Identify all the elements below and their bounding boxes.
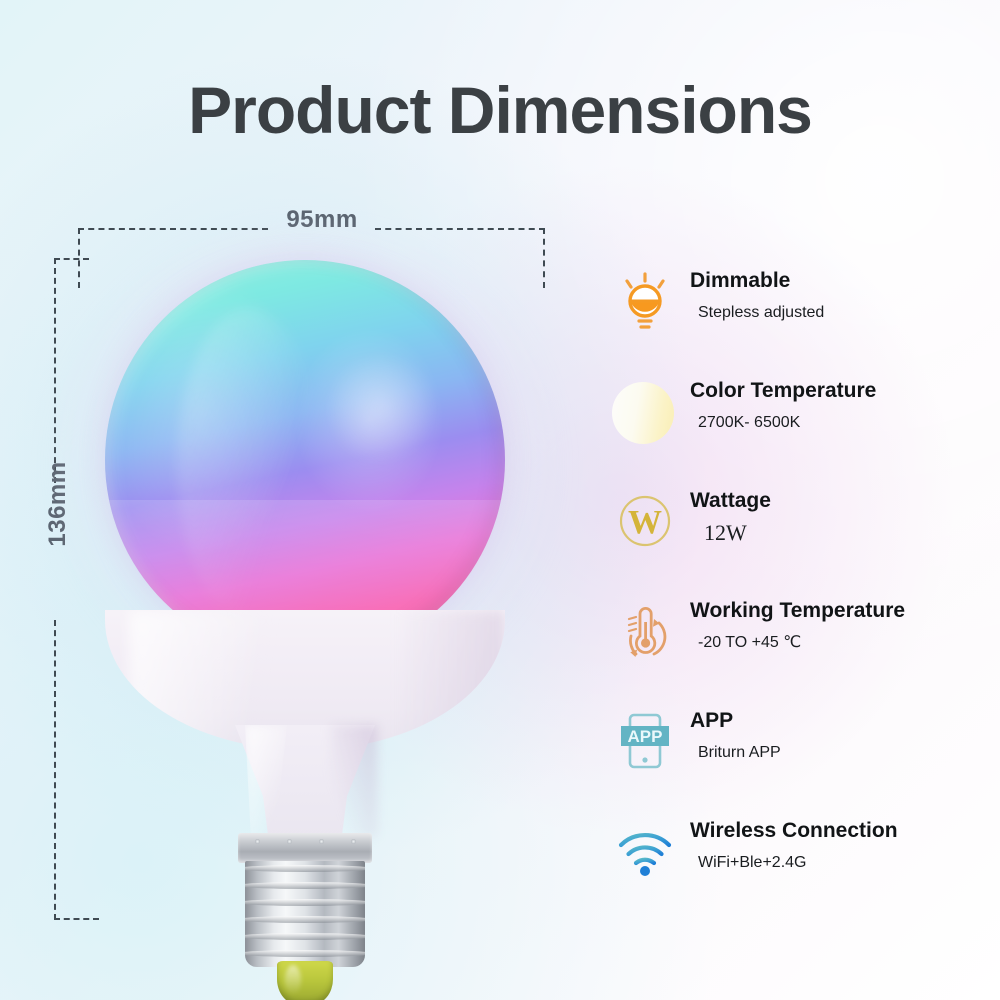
svg-text:APP: APP: [628, 727, 663, 746]
height-guide-lower: [54, 620, 56, 920]
spec-item-app: APP APP Briturn APP: [612, 708, 1000, 818]
collar-rivet: [319, 839, 324, 844]
base-tip-sheen: [285, 965, 301, 995]
collar-rivet: [287, 839, 292, 844]
wattage-w-circle-icon: W: [612, 490, 678, 556]
thread-ridge: [245, 950, 365, 957]
spec-title: Dimmable: [690, 268, 1000, 294]
spec-text: Dimmable Stepless adjusted: [690, 268, 1000, 324]
neck-shade: [331, 725, 377, 837]
color-temperature-gradient: [612, 382, 674, 444]
spec-text: Wattage 12W: [690, 488, 1000, 544]
product-dimensions-infographic: Product Dimensions 95mm 136mm E27: [0, 0, 1000, 1000]
thread-ridge: [245, 865, 365, 872]
spec-subtitle: Stepless adjusted: [690, 302, 1000, 324]
spec-subtitle: 2700K- 6500K: [690, 412, 1000, 434]
wifi-signal-icon: [612, 820, 678, 886]
collar-rivet: [255, 839, 260, 844]
thread-ridge: [245, 882, 365, 889]
svg-text:W: W: [628, 504, 662, 541]
spec-subtitle: WiFi+Ble+2.4G: [690, 852, 1000, 874]
spec-list: Dimmable Stepless adjusted Color Tempera…: [612, 268, 1000, 928]
width-label: 95mm: [268, 206, 376, 234]
spec-title: Wireless Connection: [690, 818, 1000, 844]
width-guide-left: [78, 228, 268, 230]
spec-text: Wireless Connection WiFi+Ble+2.4G: [690, 818, 1000, 874]
thread-ridge: [245, 933, 365, 940]
spec-item-wattage: W Wattage 12W: [612, 488, 1000, 598]
spec-item-color-temperature: Color Temperature 2700K- 6500K: [612, 378, 1000, 488]
color-temperature-swatch-icon: [612, 380, 678, 446]
width-guide-right: [375, 228, 545, 230]
diffuser-shade: [369, 610, 505, 750]
spec-text: Working Temperature -20 TO +45 ℃: [690, 598, 1000, 654]
working-temperature-thermometer-icon: [612, 600, 678, 666]
socket-collar: [238, 833, 372, 863]
spec-text: APP Briturn APP: [690, 708, 1000, 764]
spec-title: Wattage: [690, 488, 1000, 514]
spec-title: Color Temperature: [690, 378, 1000, 404]
thread-ridge: [245, 916, 365, 923]
spec-item-wireless-connection: Wireless Connection WiFi+Ble+2.4G: [612, 818, 1000, 928]
bulb-illustration: [95, 255, 515, 925]
spec-text: Color Temperature 2700K- 6500K: [690, 378, 1000, 434]
spec-title: Working Temperature: [690, 598, 1000, 624]
thread-ridge: [245, 899, 365, 906]
height-guide-foot: [54, 918, 99, 920]
page-title: Product Dimensions: [0, 72, 1000, 148]
spec-subtitle: 12W: [690, 522, 1000, 544]
height-guide-cap: [54, 258, 89, 260]
dimmable-bulb-icon: [612, 270, 678, 336]
spec-item-dimmable: Dimmable Stepless adjusted: [612, 268, 1000, 378]
e27-screw-threads: [245, 861, 365, 967]
app-phone-icon: APP: [612, 710, 678, 776]
globe-rim: [105, 260, 505, 660]
collar-rivet: [351, 839, 356, 844]
spec-title: APP: [690, 708, 1000, 734]
spec-subtitle: Briturn APP: [690, 742, 1000, 764]
spec-item-working-temperature: Working Temperature -20 TO +45 ℃: [612, 598, 1000, 708]
spec-subtitle: -20 TO +45 ℃: [690, 632, 1000, 654]
width-tick-right: [543, 228, 545, 288]
